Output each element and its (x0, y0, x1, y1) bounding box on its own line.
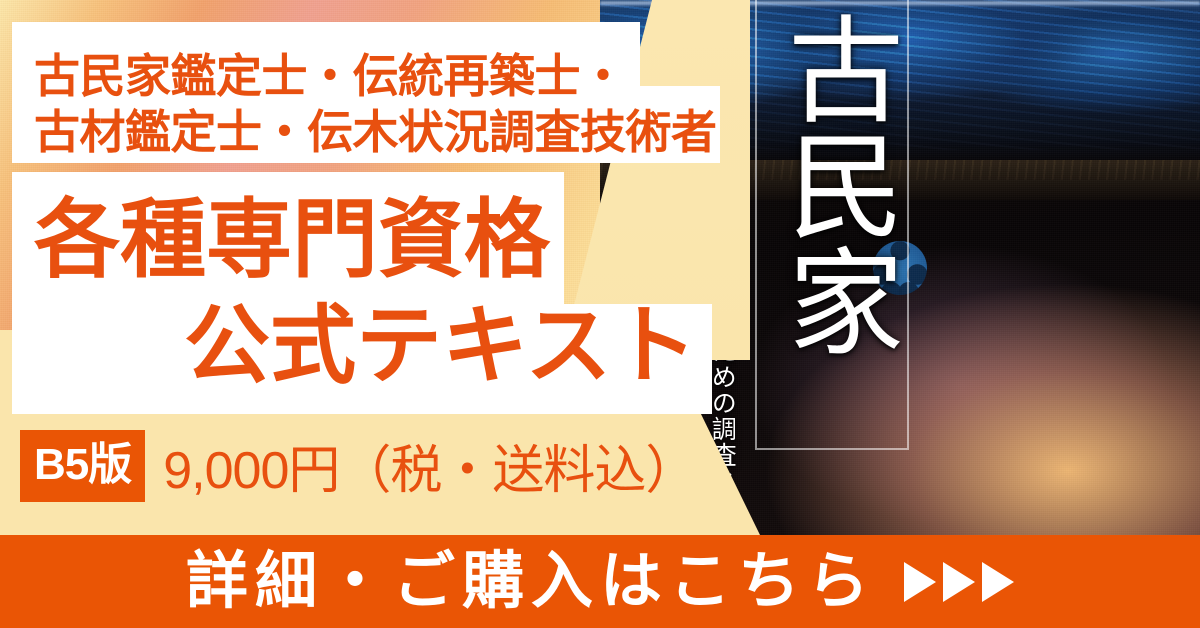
triangle-right-icon (904, 562, 936, 602)
cta-label: 詳細・ご購入はこちら (186, 551, 876, 613)
price-row: B5版 9,000円（税・送料込） (20, 428, 696, 503)
main-title-line-1: 各種専門資格 (34, 188, 550, 292)
qualifications-line-1: 古民家鑑定士・伝統再築士・ (34, 48, 626, 104)
main-title-line-2: 公式テキスト (184, 294, 697, 398)
cover-title: 古民家 (758, 10, 908, 358)
cta-bar[interactable]: 詳細・ご購入はこちら (0, 535, 1200, 628)
qualifications-panel: 古民家鑑定士・伝統再築士・ 古材鑑定士・伝木状況調査技術者 (12, 22, 720, 163)
qualifications-line-2: 古材鑑定士・伝木状況調査技術者 (34, 104, 717, 160)
cta-arrow-group (904, 562, 1014, 602)
triangle-right-icon (982, 562, 1014, 602)
format-badge: B5版 (20, 430, 145, 502)
triangle-right-icon (943, 562, 975, 602)
price-text: 9,000円（税・送料込） (163, 428, 696, 503)
promo-banner: 古民家 伝統構法、古民家活用のための調査と再生の 古民家鑑定士・伝統再築士・ 古… (0, 0, 1200, 628)
